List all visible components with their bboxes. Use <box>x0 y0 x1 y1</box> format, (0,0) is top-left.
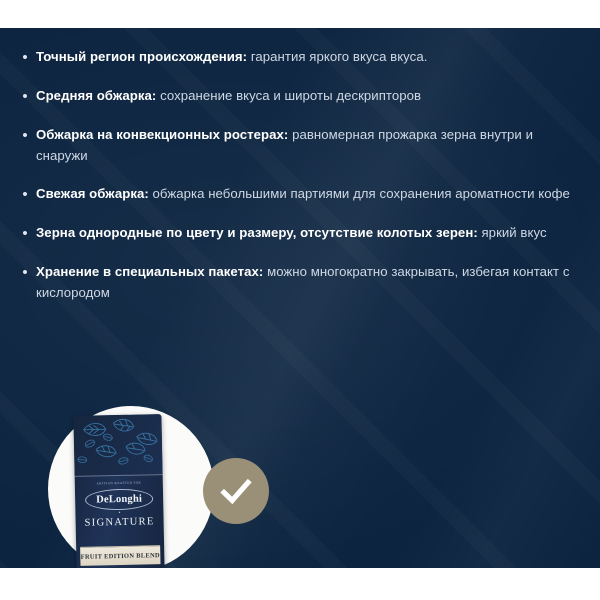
bullet-marker-icon: • <box>14 183 36 205</box>
feature-bullet-list: • Точный регион происхождения: гарантия … <box>0 28 600 320</box>
top-white-band <box>0 0 600 28</box>
list-item: • Зерна однородные по цвету и размеру, о… <box>14 222 580 244</box>
list-item: • Обжарка на конвекционных ростерах: рав… <box>14 124 580 166</box>
bullet-lead: Средняя обжарка: <box>36 88 156 103</box>
coffee-bag: ARTISAN ROASTED FOR DeLonghi • SIGNATURE… <box>73 414 164 568</box>
bullet-lead: Свежая обжарка: <box>36 186 149 201</box>
bullet-text: Средняя обжарка: сохранение вкуса и широ… <box>36 85 580 106</box>
bullet-marker-icon: • <box>14 124 36 146</box>
list-item: • Свежая обжарка: обжарка небольшими пар… <box>14 183 580 205</box>
delonghi-logo: DeLonghi <box>85 488 153 510</box>
package-blend-label-text: FRUIT EDITION BLEND <box>81 552 160 561</box>
bullet-lead: Обжарка на конвекционных ростерах: <box>36 127 288 142</box>
bullet-rest: яркий вкус <box>478 225 547 240</box>
bullet-marker-icon: • <box>14 46 36 68</box>
logo-separator-icon: • <box>118 510 120 516</box>
bullet-lead: Зерна однородные по цвету и размеру, отс… <box>36 225 478 240</box>
quality-check-badge <box>203 458 269 524</box>
bullet-rest: гарантия яркого вкуса вкуса. <box>247 49 427 64</box>
coffee-leaf-art-icon <box>73 414 162 478</box>
list-item: • Хранение в специальных пакетах: можно … <box>14 261 580 303</box>
bullet-text: Точный регион происхождения: гарантия яр… <box>36 46 580 67</box>
bullet-text: Свежая обжарка: обжарка небольшими парти… <box>36 183 580 204</box>
bullet-text: Хранение в специальных пакетах: можно мн… <box>36 261 580 303</box>
bullet-marker-icon: • <box>14 85 36 107</box>
bullet-lead: Хранение в специальных пакетах: <box>36 264 263 279</box>
product-illustration: ARTISAN ROASTED FOR DeLonghi • SIGNATURE… <box>48 406 318 568</box>
bullet-lead: Точный регион происхождения: <box>36 49 247 64</box>
bullet-rest: сохранение вкуса и широты дескрипторов <box>156 88 421 103</box>
list-item: • Точный регион происхождения: гарантия … <box>14 46 580 68</box>
list-item: • Средняя обжарка: сохранение вкуса и ши… <box>14 85 580 107</box>
bullet-marker-icon: • <box>14 261 36 283</box>
package-tagline: ARTISAN ROASTED FOR <box>75 480 163 486</box>
package-blend-label: FRUIT EDITION BLEND <box>80 545 160 566</box>
package-line-name: SIGNATURE <box>76 516 164 529</box>
check-icon <box>216 471 256 511</box>
content-panel: • Точный регион происхождения: гарантия … <box>0 28 600 568</box>
bullet-rest: обжарка небольшими партиями для сохранен… <box>149 186 570 201</box>
bullet-text: Зерна однородные по цвету и размеру, отс… <box>36 222 580 243</box>
bottom-white-band <box>0 568 600 600</box>
slide: • Точный регион происхождения: гарантия … <box>0 0 600 600</box>
bullet-marker-icon: • <box>14 222 36 244</box>
bullet-text: Обжарка на конвекционных ростерах: равно… <box>36 124 580 166</box>
